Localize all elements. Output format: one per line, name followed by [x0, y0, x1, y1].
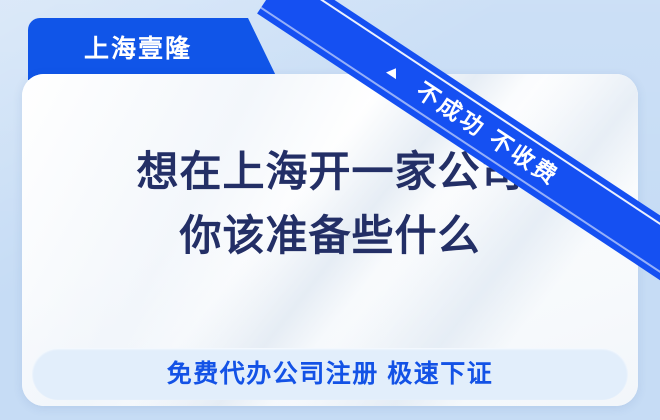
brand-tab-inner: 上海壹隆	[28, 18, 248, 80]
promo-poster: 上海壹隆 想在上海开一家公司 你该准备些什么 免费代办公司注册 极速下证 不成功…	[0, 0, 660, 420]
cta-pill-label: 免费代办公司注册 极速下证	[167, 362, 493, 387]
content-card: 想在上海开一家公司 你该准备些什么 免费代办公司注册 极速下证	[22, 74, 638, 406]
cta-pill[interactable]: 免费代办公司注册 极速下证	[32, 348, 628, 400]
brand-tab-label: 上海壹隆	[84, 37, 192, 62]
headline-line-2: 你该准备些什么	[22, 204, 638, 268]
triangle-up-icon	[386, 65, 401, 79]
brand-tab: 上海壹隆	[28, 18, 278, 80]
